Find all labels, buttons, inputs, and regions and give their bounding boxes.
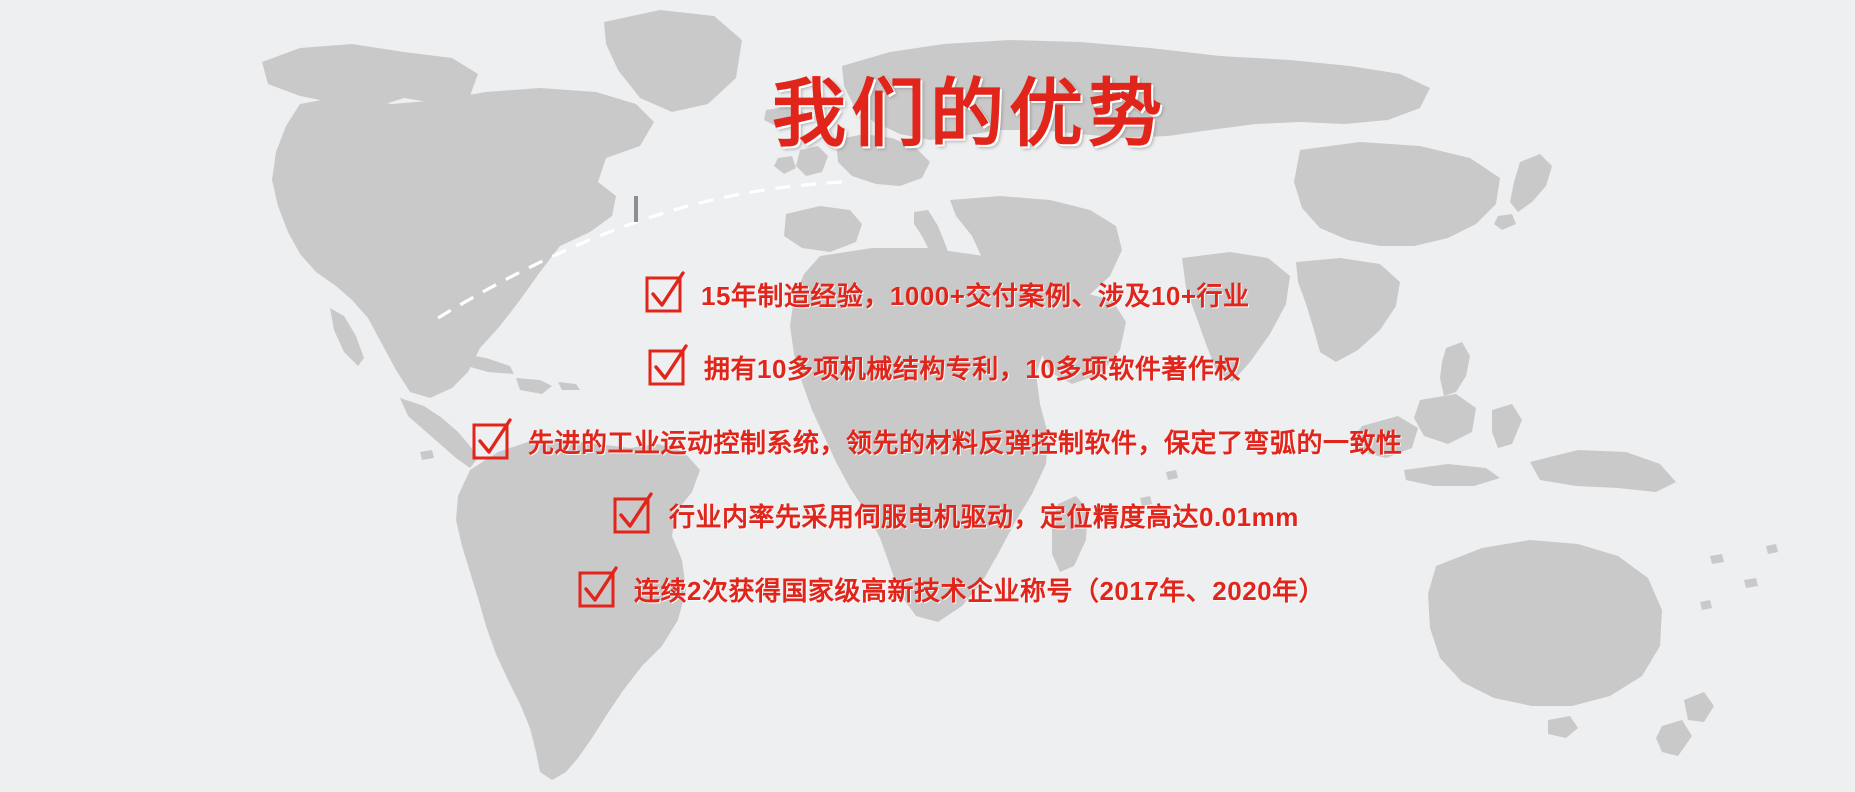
- list-item-label: 先进的工业运动控制系统，领先的材料反弹控制软件，保定了弯弧的一致性: [528, 423, 1403, 460]
- list-item: 连续2次获得国家级高新技术企业称号（2017年、2020年）: [578, 570, 1325, 608]
- checkbox-checked-icon: [613, 496, 651, 534]
- checkbox-checked-icon: [578, 570, 616, 608]
- list-item-label: 连续2次获得国家级高新技术企业称号（2017年、2020年）: [634, 571, 1325, 608]
- list-item-label: 15年制造经验，1000+交付案例、涉及10+行业: [701, 276, 1250, 313]
- list-item: 拥有10多项机械结构专利，10多项软件著作权: [648, 348, 1241, 386]
- advantages-banner: 我们的优势 15年制造经验，1000+交付案例、涉及10+行业: [0, 0, 1855, 792]
- advantages-list: 15年制造经验，1000+交付案例、涉及10+行业 拥有10多项机械结构专利，1…: [0, 0, 1855, 792]
- checkbox-checked-icon: [472, 422, 510, 460]
- list-item: 15年制造经验，1000+交付案例、涉及10+行业: [645, 275, 1250, 313]
- list-item-label: 拥有10多项机械结构专利，10多项软件著作权: [704, 349, 1241, 386]
- list-item: 行业内率先采用伺服电机驱动，定位精度高达0.01mm: [613, 496, 1299, 534]
- list-item-label: 行业内率先采用伺服电机驱动，定位精度高达0.01mm: [669, 497, 1299, 534]
- list-item: 先进的工业运动控制系统，领先的材料反弹控制软件，保定了弯弧的一致性: [472, 422, 1403, 460]
- checkbox-checked-icon: [645, 275, 683, 313]
- checkbox-checked-icon: [648, 348, 686, 386]
